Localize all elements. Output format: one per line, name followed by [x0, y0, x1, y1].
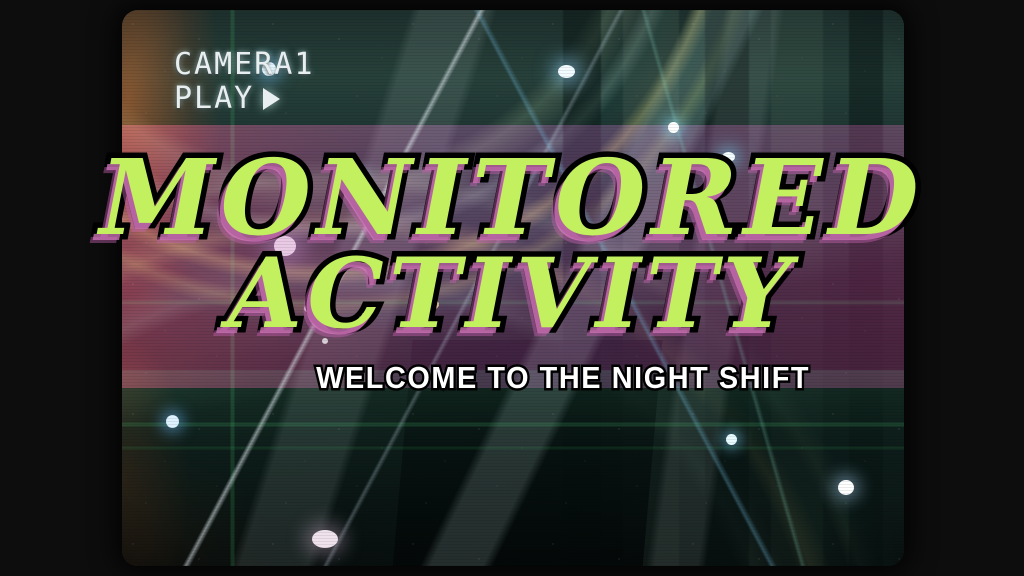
camera-feed-frame: CAMERA1 PLAY — [122, 10, 904, 566]
video-still-canvas: CAMERA1 PLAY MONITORED ACTIVITY WELCOME … — [0, 0, 1024, 576]
playback-status-row: PLAY — [174, 82, 314, 116]
camera-label: CAMERA1 — [174, 48, 314, 82]
camera-osd-overlay: CAMERA1 PLAY — [174, 48, 314, 116]
playback-label: PLAY — [174, 82, 254, 116]
play-triangle-icon — [263, 88, 280, 110]
subtitle: WELCOME TO THE NIGHT SHIFT — [36, 360, 988, 396]
